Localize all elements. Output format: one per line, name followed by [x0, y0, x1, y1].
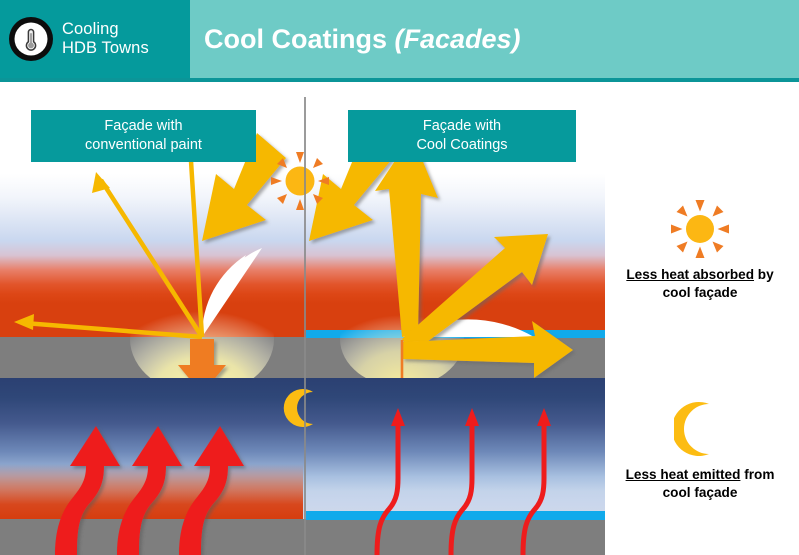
- left-emitted-arrow-3: [179, 426, 244, 555]
- label-cool-coatings: Façade with Cool Coatings: [348, 110, 576, 162]
- page-title-main: Cool Coatings: [204, 24, 395, 54]
- legend-emitted-text: Less heat emitted from cool façade: [603, 466, 797, 502]
- night-emission-layer: [0, 378, 605, 555]
- legend-absorbed-emphasis: Less heat absorbed: [626, 267, 754, 282]
- night-scene: [0, 378, 605, 555]
- label-right-line2: Cool Coatings: [416, 136, 507, 155]
- legend-less-heat-absorbed: Less heat absorbed by cool façade: [603, 198, 797, 302]
- page-title-sub: (Facades): [395, 24, 521, 54]
- left-emitted-arrow-2: [117, 426, 182, 555]
- legend-absorbed-text: Less heat absorbed by cool façade: [603, 266, 797, 302]
- thermometer-icon: [9, 17, 53, 61]
- brand-line-2: HDB Towns: [62, 39, 149, 58]
- legend-emitted-line2: cool façade: [603, 484, 797, 502]
- right-emitted-arrow-1: [377, 408, 405, 555]
- brand-line-1: Cooling: [62, 20, 119, 38]
- header-divider: [0, 78, 799, 82]
- right-emitted-arrow-2: [451, 408, 479, 555]
- brand-text: Cooling HDB Towns: [62, 20, 149, 58]
- moon-icon: [284, 389, 313, 427]
- label-right-line1: Façade with: [416, 117, 507, 136]
- title-bar: Cool Coatings (Facades): [190, 0, 799, 78]
- diagram-scene: [0, 97, 605, 555]
- left-emitted-arrow-1: [55, 426, 120, 555]
- label-left-line1: Façade with: [85, 117, 202, 136]
- legend-absorbed-line2: cool façade: [603, 284, 797, 302]
- legend-moon-icon: [603, 398, 797, 460]
- legend-emitted-emphasis: Less heat emitted: [626, 467, 741, 482]
- slide-header: Cooling HDB Towns Cool Coatings (Facades…: [0, 0, 799, 78]
- brand-block: Cooling HDB Towns: [0, 0, 190, 78]
- page-title: Cool Coatings (Facades): [204, 24, 521, 54]
- panel-divider: [304, 97, 306, 555]
- label-left-line2: conventional paint: [85, 136, 202, 155]
- legend-less-heat-emitted: Less heat emitted from cool façade: [603, 398, 797, 502]
- legend-emitted-rest: from: [740, 467, 774, 482]
- right-emitted-arrow-3: [523, 408, 551, 555]
- label-conventional-paint: Façade with conventional paint: [31, 110, 256, 162]
- slide-canvas: Cooling HDB Towns Cool Coatings (Facades…: [0, 0, 799, 555]
- legend-sun-icon: [603, 198, 797, 260]
- legend-absorbed-rest: by: [754, 267, 774, 282]
